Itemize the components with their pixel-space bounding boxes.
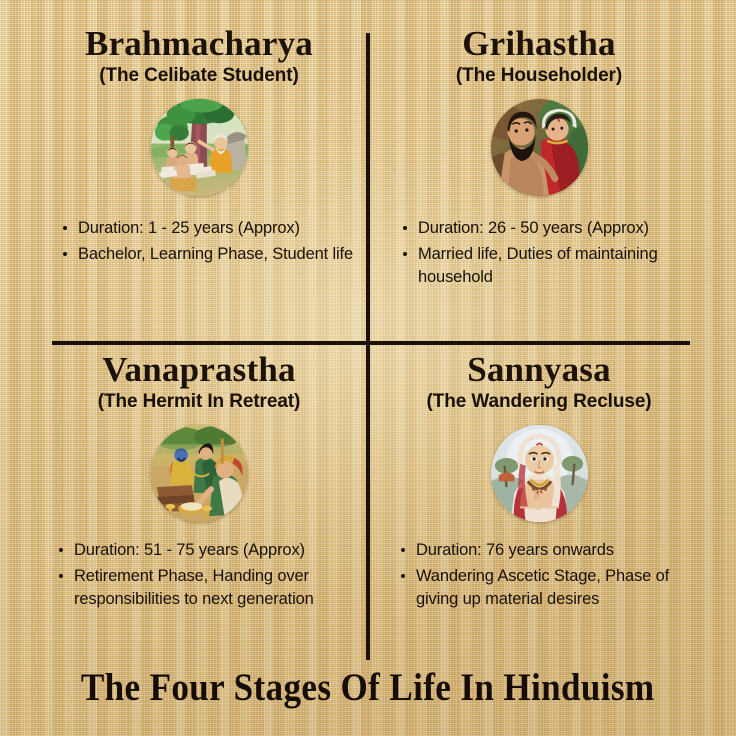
list-item: Retirement Phase, Handing over responsib… [59, 565, 362, 612]
list-item: Married life, Duties of maintaining hous… [403, 243, 702, 290]
poster-title: The Four Stages Of Life In Hinduism [81, 668, 655, 707]
vertical-divider [366, 33, 370, 660]
horizontal-divider [52, 341, 690, 345]
list-item: Duration: 76 years onwards [401, 539, 702, 562]
list-item: Bachelor, Learning Phase, Student life [63, 243, 362, 266]
list-item: Duration: 1 - 25 years (Approx) [63, 217, 362, 240]
quadrant-image-wrap-grihastha [376, 99, 702, 196]
quadrant-subtitle-vanaprastha: (The Hermit In Retreat) [36, 391, 362, 414]
quadrant-title-brahmacharya: Brahmacharya [36, 26, 362, 62]
quadrant-grihastha: Grihastha (The Householder) [376, 26, 702, 338]
quadrant-vanaprastha: Vanaprastha (The Hermit In Retreat) [36, 352, 362, 664]
bullet-list-sannyasa: Duration: 76 years onwards Wandering Asc… [376, 539, 702, 611]
quadrant-brahmacharya: Brahmacharya (The Celibate Student) [36, 26, 362, 338]
quadrant-title-vanaprastha: Vanaprastha [36, 352, 362, 388]
quadrant-sannyasa: Sannyasa (The Wandering Recluse) [376, 352, 702, 664]
gurukul-students-with-sage-under-tree-illustration [151, 99, 248, 196]
bullet-list-brahmacharya: Duration: 1 - 25 years (Approx) Bachelor… [36, 217, 362, 266]
quadrant-image-wrap-brahmacharya [36, 99, 362, 196]
quadrant-title-sannyasa: Sannyasa [376, 352, 702, 388]
quadrant-image-wrap-sannyasa [376, 425, 702, 522]
yajna-fire-ritual-family-offering-illustration [151, 425, 248, 522]
list-item: Wandering Ascetic Stage, Phase of giving… [401, 565, 702, 612]
quadrant-subtitle-grihastha: (The Householder) [376, 65, 702, 88]
quadrant-subtitle-brahmacharya: (The Celibate Student) [36, 65, 362, 88]
married-couple-husband-and-wife-portrait-illustration [491, 99, 588, 196]
infographic-poster: Brahmacharya (The Celibate Student) [0, 0, 736, 736]
ascetic-sage-in-ochre-robe-illustration [491, 425, 588, 522]
list-item: Duration: 26 - 50 years (Approx) [403, 217, 702, 240]
quadrant-title-grihastha: Grihastha [376, 26, 702, 62]
footer-banner: The Four Stages Of Life In Hinduism [0, 668, 736, 707]
quadrant-subtitle-sannyasa: (The Wandering Recluse) [376, 391, 702, 414]
bullet-list-grihastha: Duration: 26 - 50 years (Approx) Married… [376, 217, 702, 289]
list-item: Duration: 51 - 75 years (Approx) [59, 539, 362, 562]
quadrant-image-wrap-vanaprastha [36, 425, 362, 522]
bullet-list-vanaprastha: Duration: 51 - 75 years (Approx) Retirem… [36, 539, 362, 611]
